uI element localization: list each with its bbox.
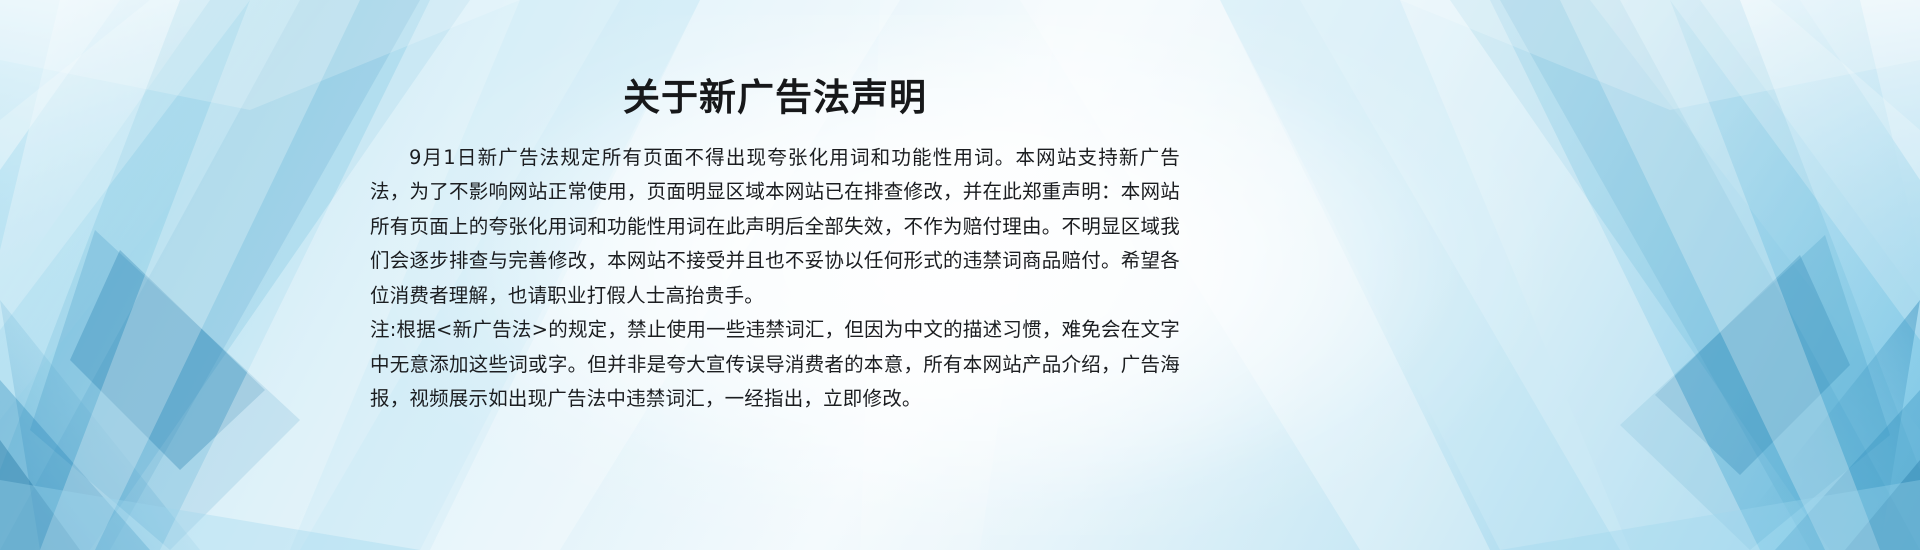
advertising-law-statement-banner: 关于新广告法声明 9月1日新广告法规定所有页面不得出现夸张化用词和功能性用词。本… [0,0,1920,550]
statement-paragraph-1: 9月1日新广告法规定所有页面不得出现夸张化用词和功能性用词。本网站支持新广告法，… [370,141,1180,314]
statement-paragraph-2: 注:根据<新广告法>的规定，禁止使用一些违禁词汇，但因为中文的描述习惯，难免会在… [370,313,1180,417]
page-title: 关于新广告法声明 [370,78,1180,119]
statement-content: 关于新广告法声明 9月1日新广告法规定所有页面不得出现夸张化用词和功能性用词。本… [370,78,1180,417]
